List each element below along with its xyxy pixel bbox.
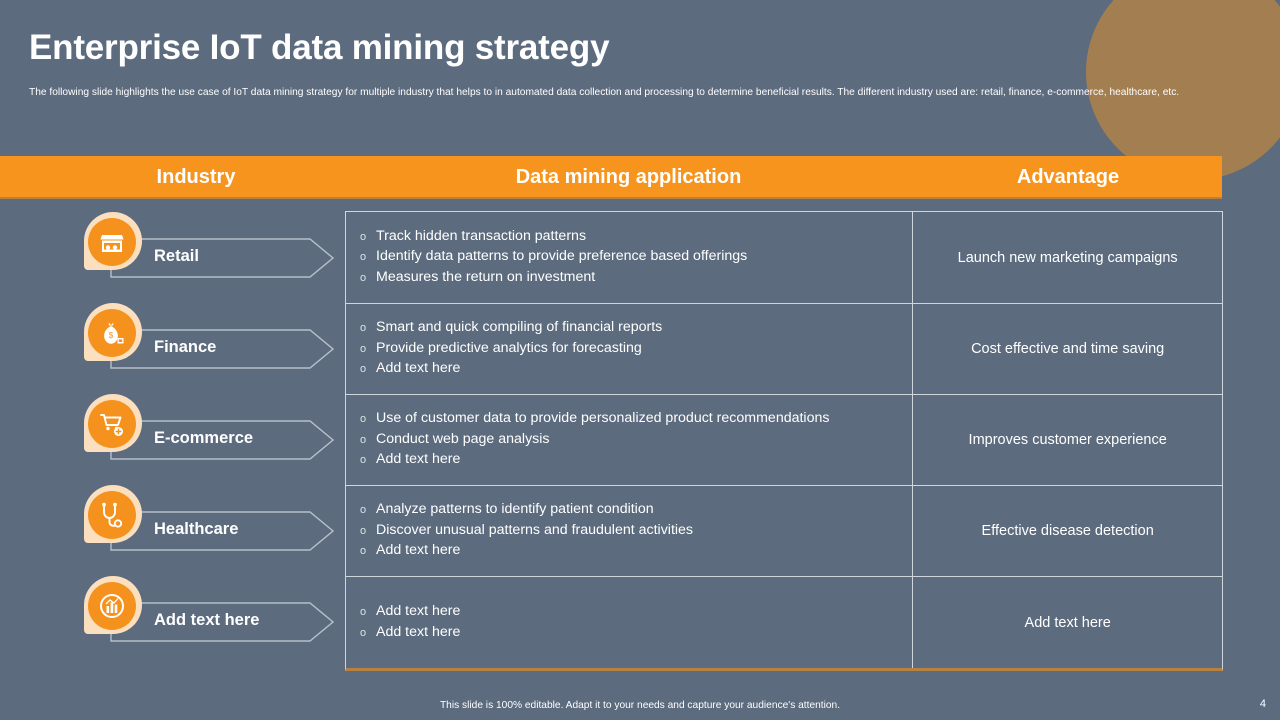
bullet-item: oAdd text here	[360, 541, 900, 562]
bullet-text: Track hidden transaction patterns	[376, 227, 586, 247]
bullet-marker: o	[360, 228, 376, 248]
bullet-item: oAdd text here	[360, 602, 900, 623]
industry-icon-bubble	[84, 485, 146, 555]
bullet-text: Identify data patterns to provide prefer…	[376, 247, 747, 267]
bullet-marker: o	[360, 501, 376, 521]
industry-label: Healthcare	[154, 520, 238, 539]
bullet-text: Smart and quick compiling of financial r…	[376, 318, 662, 338]
table-row: oSmart and quick compiling of financial …	[346, 304, 1222, 395]
advantage-cell: Add text here	[913, 577, 1222, 668]
page-subtitle: The following slide highlights the use c…	[29, 86, 1244, 99]
bullet-text: Conduct web page analysis	[376, 430, 550, 450]
money-bag-icon: $	[88, 309, 136, 357]
bullet-item: oAdd text here	[360, 623, 900, 644]
bullet-text: Add text here	[376, 602, 460, 622]
bullet-marker: o	[360, 522, 376, 542]
column-header-industry: Industry	[60, 166, 332, 189]
industry-item-ecommerce[interactable]: E-commerce	[84, 394, 334, 485]
bullet-marker: o	[360, 451, 376, 471]
bar-chart-icon	[88, 582, 136, 630]
bullet-text: Add text here	[376, 541, 460, 561]
bullet-marker: o	[360, 269, 376, 289]
bullet-text: Use of customer data to provide personal…	[376, 409, 829, 429]
bullet-marker: o	[360, 340, 376, 360]
bullet-item: oSmart and quick compiling of financial …	[360, 318, 900, 339]
bullet-text: Add text here	[376, 359, 460, 379]
bullet-item: oAdd text here	[360, 359, 900, 380]
shopping-cart-icon	[88, 400, 136, 448]
column-header-application: Data mining application	[345, 166, 912, 189]
page-number: 4	[1260, 698, 1266, 710]
bullet-marker: o	[360, 410, 376, 430]
bullet-item: oProvide predictive analytics for foreca…	[360, 339, 900, 360]
application-cell: oAnalyze patterns to identify patient co…	[346, 486, 913, 576]
table-row: oTrack hidden transaction patterns oIden…	[346, 212, 1222, 304]
bullet-text: Provide predictive analytics for forecas…	[376, 339, 642, 359]
bullet-item: oAnalyze patterns to identify patient co…	[360, 500, 900, 521]
application-cell: oTrack hidden transaction patterns oIden…	[346, 212, 913, 303]
bullet-text: Measures the return on investment	[376, 268, 595, 288]
footer-note: This slide is 100% editable. Adapt it to…	[0, 700, 1280, 711]
industry-item-retail[interactable]: Retail	[84, 212, 334, 303]
bullet-marker: o	[360, 319, 376, 339]
industry-label: Finance	[154, 338, 216, 357]
svg-text:$: $	[109, 331, 114, 340]
bullet-text: Add text here	[376, 623, 460, 643]
bullet-marker: o	[360, 603, 376, 623]
industry-icon-bubble	[84, 212, 146, 282]
advantage-cell: Launch new marketing campaigns	[913, 212, 1222, 303]
bullet-item: oMeasures the return on investment	[360, 268, 900, 289]
column-header-advantage: Advantage	[913, 166, 1223, 189]
bullet-item: oTrack hidden transaction patterns	[360, 227, 900, 248]
application-cell: oAdd text here oAdd text here	[346, 577, 913, 668]
industry-list: Retail	[84, 212, 334, 667]
bullet-item: oConduct web page analysis	[360, 430, 900, 451]
industry-icon-bubble	[84, 394, 146, 464]
industry-label: E-commerce	[154, 429, 253, 448]
bullet-text: Add text here	[376, 450, 460, 470]
table-row: oUse of customer data to provide persona…	[346, 395, 1222, 486]
advantage-cell: Cost effective and time saving	[913, 304, 1222, 394]
industry-label: Add text here	[154, 611, 259, 630]
bullet-item: oIdentify data patterns to provide prefe…	[360, 247, 900, 268]
industry-label: Retail	[154, 247, 199, 266]
industry-item-placeholder[interactable]: Add text here	[84, 576, 334, 667]
industry-icon-bubble	[84, 576, 146, 646]
industry-item-healthcare[interactable]: Healthcare	[84, 485, 334, 576]
bullet-text: Analyze patterns to identify patient con…	[376, 500, 654, 520]
bullet-item: oDiscover unusual patterns and fraudulen…	[360, 521, 900, 542]
bullet-item: oUse of customer data to provide persona…	[360, 409, 900, 430]
industry-icon-bubble: $	[84, 303, 146, 373]
table-row: oAdd text here oAdd text here Add text h…	[346, 577, 1222, 668]
stethoscope-icon	[88, 491, 136, 539]
industry-item-finance[interactable]: Finance $	[84, 303, 334, 394]
slide-canvas: Enterprise IoT data mining strategy The …	[0, 0, 1280, 720]
application-cell: oUse of customer data to provide persona…	[346, 395, 913, 485]
storefront-icon	[88, 218, 136, 266]
content-table: oTrack hidden transaction patterns oIden…	[345, 211, 1223, 671]
advantage-cell: Improves customer experience	[913, 395, 1222, 485]
bullet-marker: o	[360, 248, 376, 268]
bullet-text: Discover unusual patterns and fraudulent…	[376, 521, 693, 541]
advantage-cell: Effective disease detection	[913, 486, 1222, 576]
page-title: Enterprise IoT data mining strategy	[29, 28, 609, 68]
bullet-marker: o	[360, 431, 376, 451]
bullet-marker: o	[360, 542, 376, 562]
table-row: oAnalyze patterns to identify patient co…	[346, 486, 1222, 577]
bullet-item: oAdd text here	[360, 450, 900, 471]
application-cell: oSmart and quick compiling of financial …	[346, 304, 913, 394]
bullet-marker: o	[360, 360, 376, 380]
bullet-marker: o	[360, 624, 376, 644]
